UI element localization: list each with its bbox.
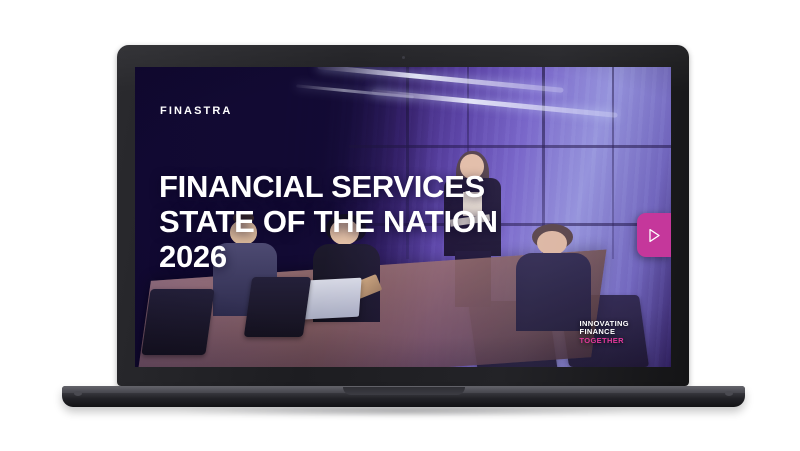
lockup-line-3: TOGETHER [580,337,629,346]
laptop-screen: FINASTRA FINANCIAL SERVICES STATE OF THE… [135,67,671,367]
base-front-notch [343,387,465,395]
page-title: FINANCIAL SERVICES STATE OF THE NATION 2… [159,169,549,274]
screenshot-canvas: FINASTRA FINANCIAL SERVICES STATE OF THE… [0,0,800,451]
office-chair [141,289,215,355]
play-video-button[interactable] [637,213,671,257]
play-icon [648,228,661,243]
window-transom [349,145,671,148]
finastra-logo: FINASTRA [160,105,232,117]
title-line-2: STATE OF THE NATION [159,204,549,239]
office-chair [243,277,310,337]
title-line-3: 2026 [159,239,549,274]
innovating-finance-together-lockup: INNOVATING FINANCE TOGETHER [580,320,629,346]
drop-shadow [84,404,724,418]
webcam-icon [402,56,405,59]
laptop-lid: FINASTRA FINANCIAL SERVICES STATE OF THE… [117,45,689,386]
base-foot-right [725,391,733,396]
base-foot-left [74,391,82,396]
title-line-1: FINANCIAL SERVICES [159,169,549,204]
window-mullion [612,67,614,259]
laptop-mockup: FINASTRA FINANCIAL SERVICES STATE OF THE… [0,0,800,451]
ceiling-light [318,67,564,93]
